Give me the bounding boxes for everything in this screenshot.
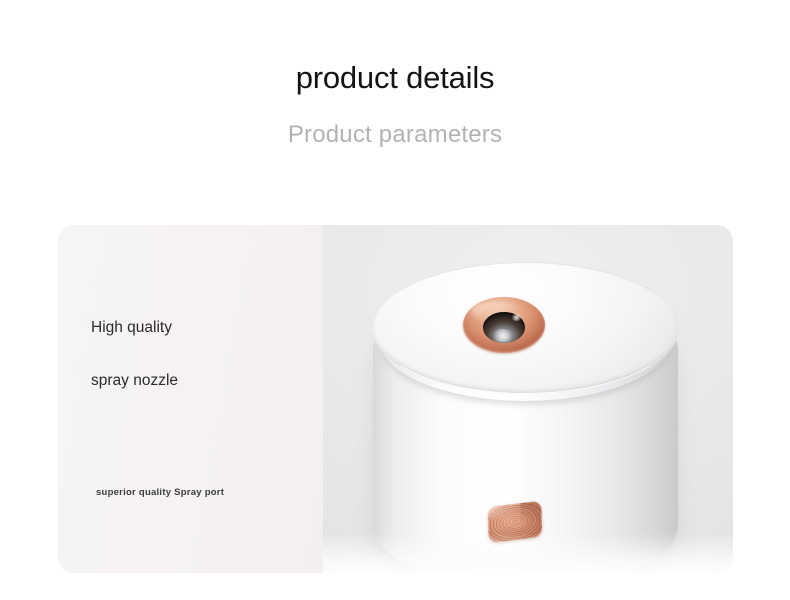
page-title: product details (0, 58, 790, 98)
product-detail-card: High quality spray nozzle superior quali… (58, 225, 733, 573)
heading-block: product details Product parameters (0, 0, 790, 200)
photo-floor-gradient (323, 533, 733, 573)
nozzle-glint (491, 329, 514, 341)
info-caption: superior quality Spray port (96, 487, 224, 498)
info-line-secondary: spray nozzle (91, 372, 178, 390)
info-line-primary: High quality (91, 319, 172, 337)
page-subtitle: Product parameters (0, 118, 790, 152)
nozzle-specular (511, 314, 522, 321)
info-panel: High quality spray nozzle superior quali… (58, 225, 323, 573)
product-photo (323, 225, 733, 573)
spray-nozzle (463, 297, 545, 353)
